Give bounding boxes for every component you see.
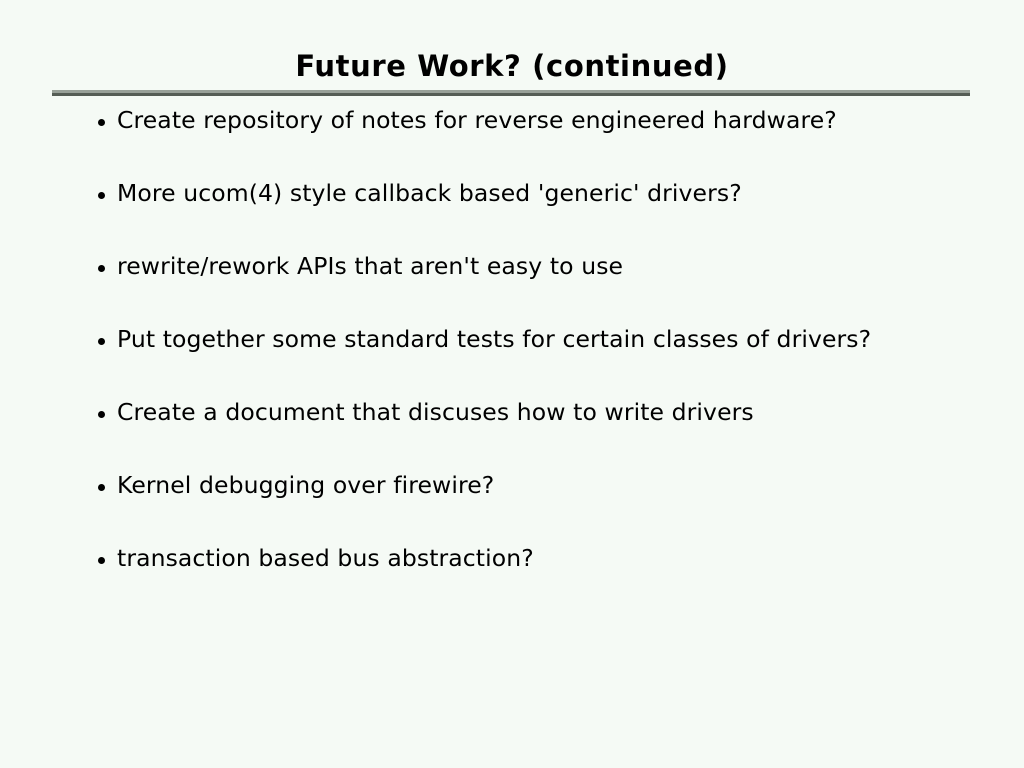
bullet-list: Create repository of notes for reverse e… bbox=[92, 105, 992, 616]
list-item: Create repository of notes for reverse e… bbox=[92, 105, 992, 178]
list-item-label: Kernel debugging over firewire? bbox=[117, 470, 494, 500]
list-item: Put together some standard tests for cer… bbox=[92, 324, 992, 397]
bullet-dot-icon bbox=[98, 411, 105, 418]
list-item-label: transaction based bus abstraction? bbox=[117, 543, 534, 573]
bullet-dot-icon bbox=[98, 338, 105, 345]
bullet-dot-icon bbox=[98, 192, 105, 199]
list-item-label: Put together some standard tests for cer… bbox=[117, 324, 871, 354]
list-item-label: More ucom(4) style callback based 'gener… bbox=[117, 178, 742, 208]
list-item: Kernel debugging over firewire? bbox=[92, 470, 992, 543]
list-item: Create a document that discuses how to w… bbox=[92, 397, 992, 470]
list-item: transaction based bus abstraction? bbox=[92, 543, 992, 616]
bullet-dot-icon bbox=[98, 484, 105, 491]
list-item-label: Create a document that discuses how to w… bbox=[117, 397, 754, 427]
bullet-dot-icon bbox=[98, 265, 105, 272]
bullet-dot-icon bbox=[98, 119, 105, 126]
title-divider bbox=[52, 90, 970, 96]
page-title: Future Work? (continued) bbox=[295, 48, 728, 84]
list-item-label: rewrite/rework APIs that aren't easy to … bbox=[117, 251, 623, 281]
slide-title-block: Future Work? (continued) bbox=[0, 48, 1024, 84]
list-item: More ucom(4) style callback based 'gener… bbox=[92, 178, 992, 251]
list-item: rewrite/rework APIs that aren't easy to … bbox=[92, 251, 992, 324]
bullet-dot-icon bbox=[98, 557, 105, 564]
title-divider-shadow bbox=[52, 93, 970, 96]
list-item-label: Create repository of notes for reverse e… bbox=[117, 105, 837, 135]
presentation-slide: Future Work? (continued) Create reposito… bbox=[0, 0, 1024, 768]
